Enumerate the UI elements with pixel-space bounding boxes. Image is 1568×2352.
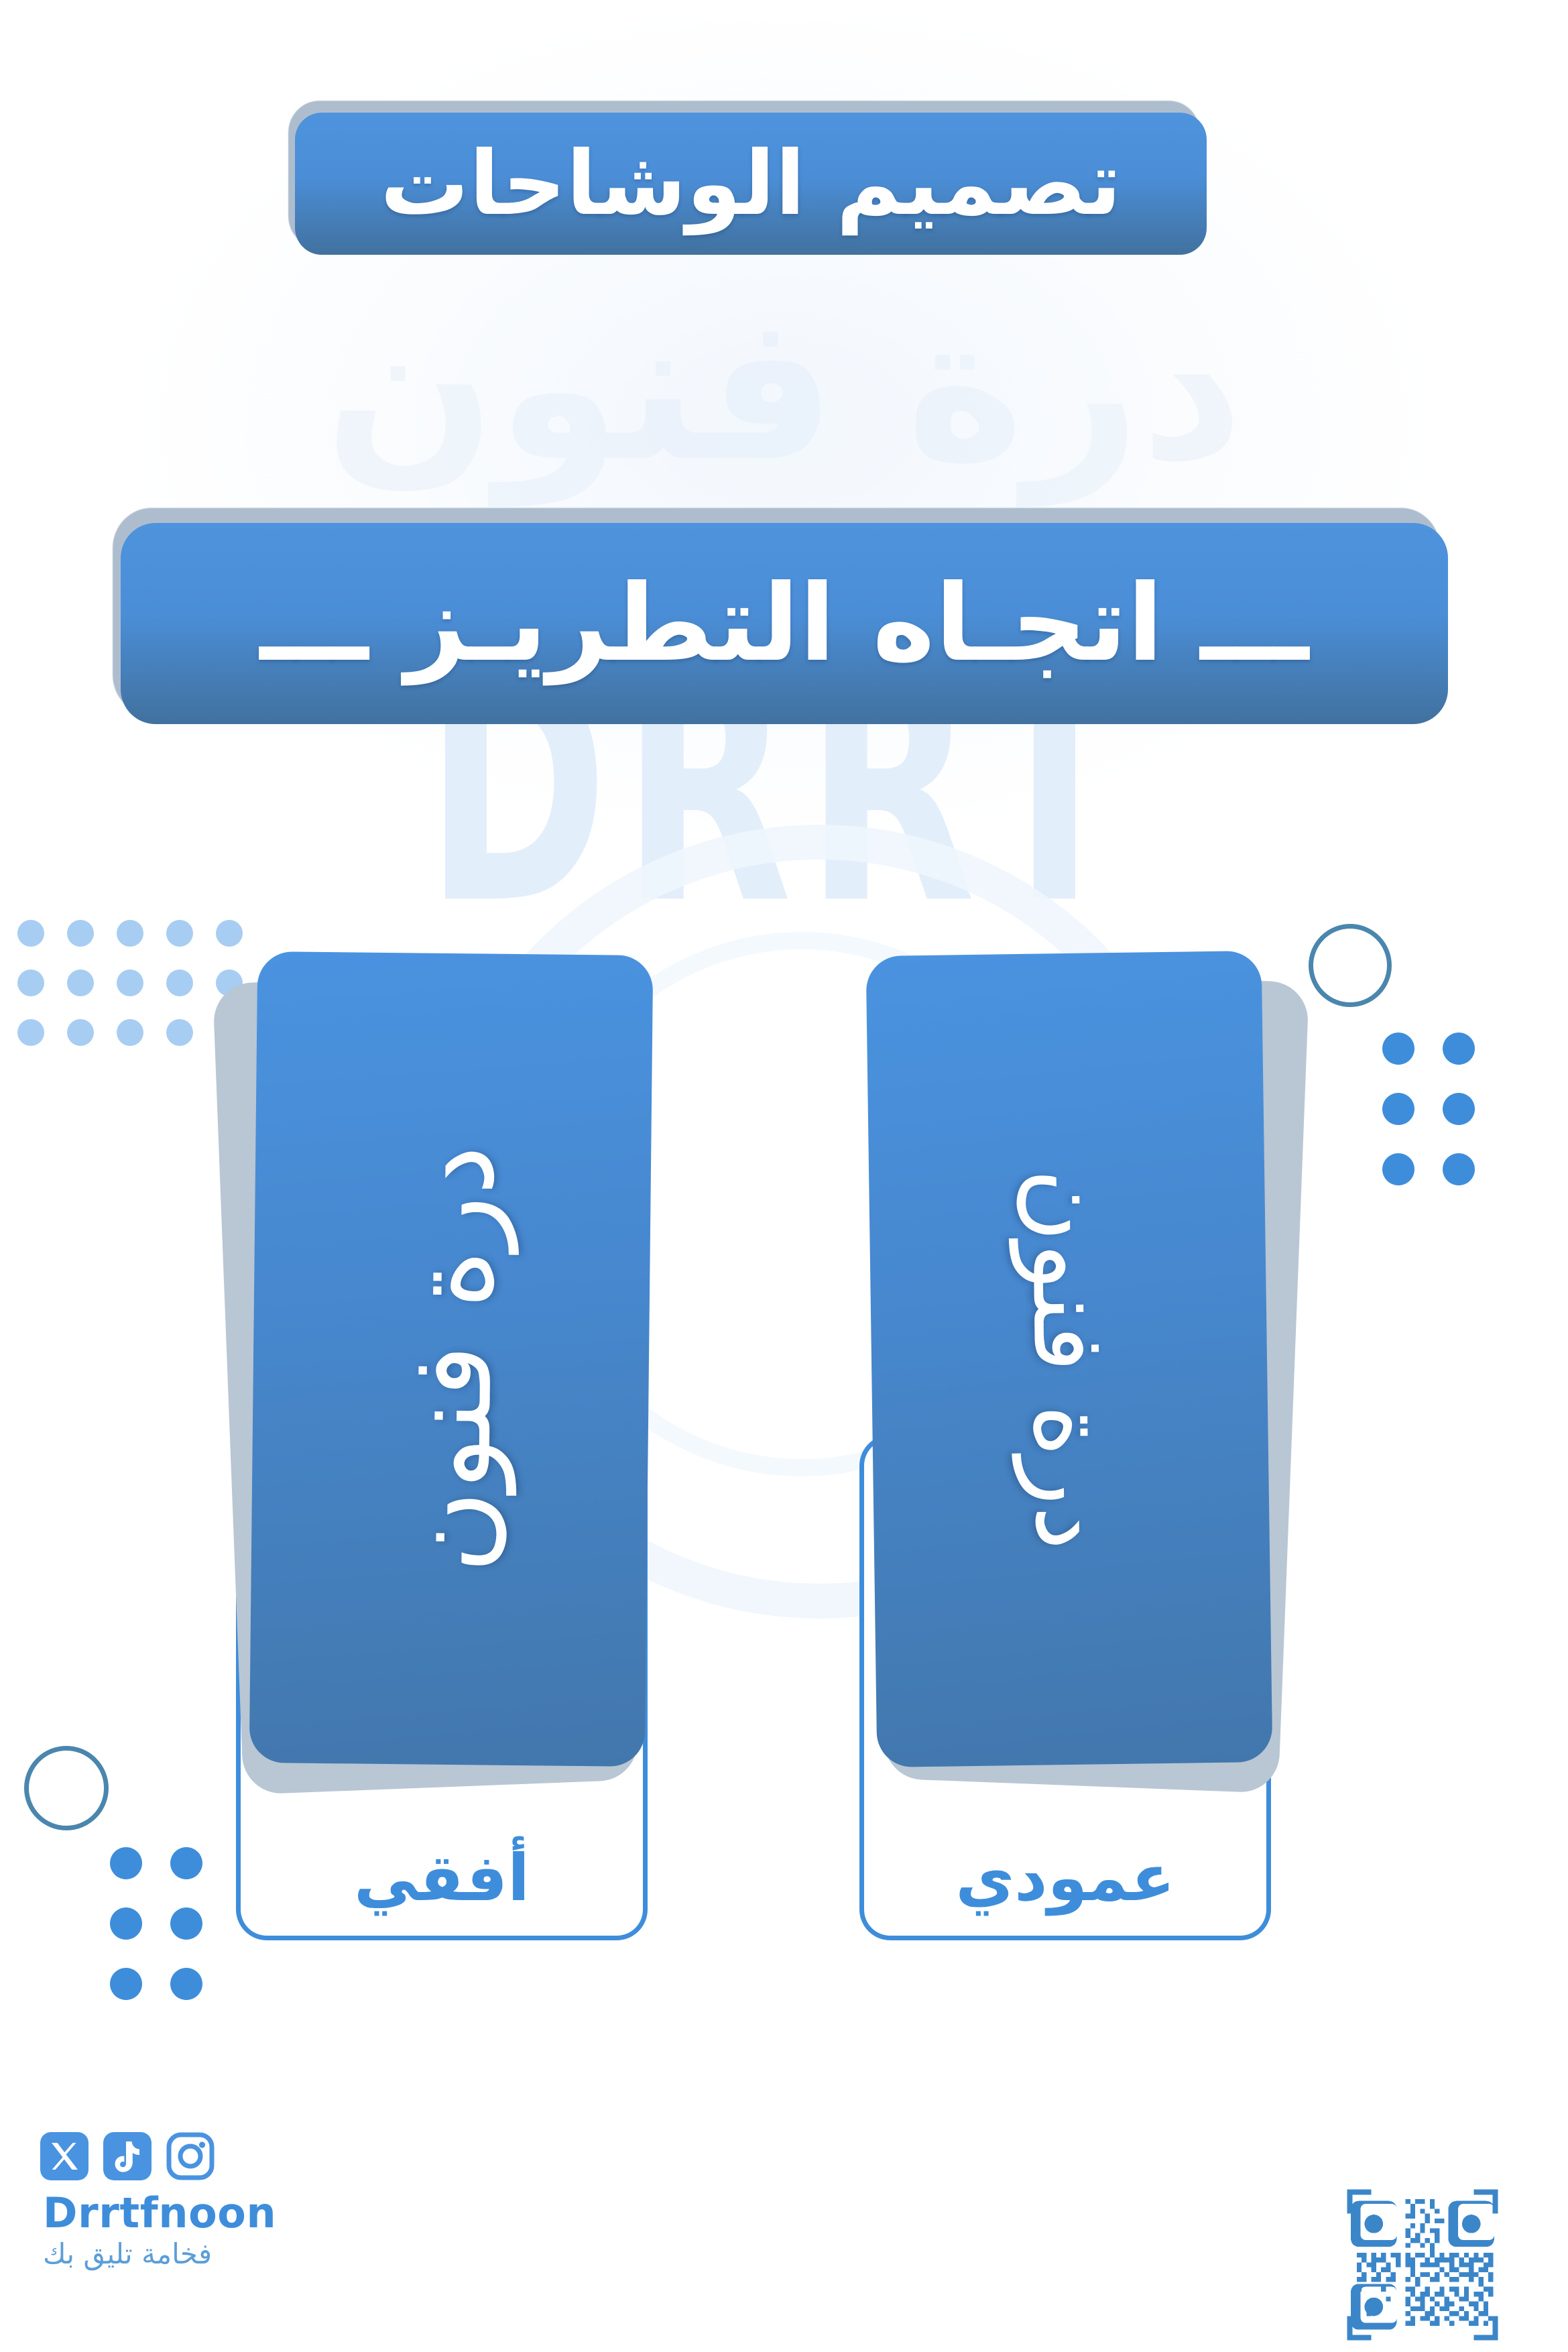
sample-caption-horizontal: أفقي <box>354 1840 530 1936</box>
page-title: تصميم الوشاحات <box>380 132 1122 235</box>
dot <box>110 1968 142 2000</box>
dot <box>216 920 243 947</box>
dot <box>67 920 94 947</box>
dot <box>1382 1153 1414 1185</box>
decorative-circle-bottom-left <box>24 1746 109 1830</box>
title-banner-face: تصميم الوشاحات <box>295 113 1207 255</box>
watermark-arabic: درة فنون <box>324 288 1244 489</box>
poster-canvas: درة فنون DRRT تصميم الوشاحات ـــ اتجـاه … <box>0 0 1568 2352</box>
page-subtitle: ـــ اتجـاه التطريـز ـــ <box>260 562 1309 685</box>
brand-footer: Drrtfnoon فخامة تليق بك <box>40 2132 322 2270</box>
dot <box>1443 1153 1475 1185</box>
decorative-circle-top-right <box>1309 924 1392 1007</box>
dot <box>110 1847 142 1879</box>
sample-script-vertical: درة فنون <box>1006 1167 1132 1551</box>
dot <box>170 1907 202 1940</box>
sample-caption-vertical: عمودي <box>955 1840 1174 1936</box>
sample-card-face: درة فنون <box>866 951 1273 1767</box>
x-twitter-icon[interactable] <box>40 2132 88 2180</box>
dot <box>1443 1033 1475 1065</box>
dot <box>17 920 44 947</box>
dot-grid-right <box>1373 1033 1475 1195</box>
dot <box>117 969 143 996</box>
sample-card-face: درة فنون <box>249 951 654 1767</box>
tiktok-icon[interactable] <box>103 2132 152 2180</box>
subtitle-banner: ـــ اتجـاه التطريـز ـــ <box>121 523 1448 724</box>
dot <box>17 1019 44 1046</box>
dot <box>117 1019 143 1046</box>
subtitle-banner-face: ـــ اتجـاه التطريـز ـــ <box>121 523 1448 724</box>
instagram-icon[interactable] <box>166 2132 215 2180</box>
dot <box>67 969 94 996</box>
dot <box>170 1847 202 1879</box>
sample-card-horizontal[interactable]: درة فنون <box>253 953 649 1765</box>
dot <box>117 920 143 947</box>
brand-name: Drrtfnoon <box>43 2191 322 2235</box>
dot <box>166 1019 193 1046</box>
dot <box>67 1019 94 1046</box>
dot-grid-bottom-left <box>101 1847 202 2009</box>
dot <box>17 969 44 996</box>
dot <box>166 969 193 996</box>
dot <box>166 920 193 947</box>
sample-script-horizontal: درة فنون <box>379 1144 524 1574</box>
dot <box>1382 1033 1414 1065</box>
title-banner: تصميم الوشاحات <box>295 113 1207 255</box>
dot <box>170 1968 202 2000</box>
dot-grid-left-pale <box>9 920 243 1054</box>
dot <box>110 1907 142 1940</box>
social-icons <box>40 2132 322 2180</box>
sample-card-vertical[interactable]: درة فنون <box>871 953 1267 1765</box>
dot <box>1443 1093 1475 1125</box>
brand-tagline: فخامة تليق بك <box>43 2237 322 2270</box>
dot <box>1382 1093 1414 1125</box>
qr-code[interactable] <box>1342 2184 1503 2345</box>
